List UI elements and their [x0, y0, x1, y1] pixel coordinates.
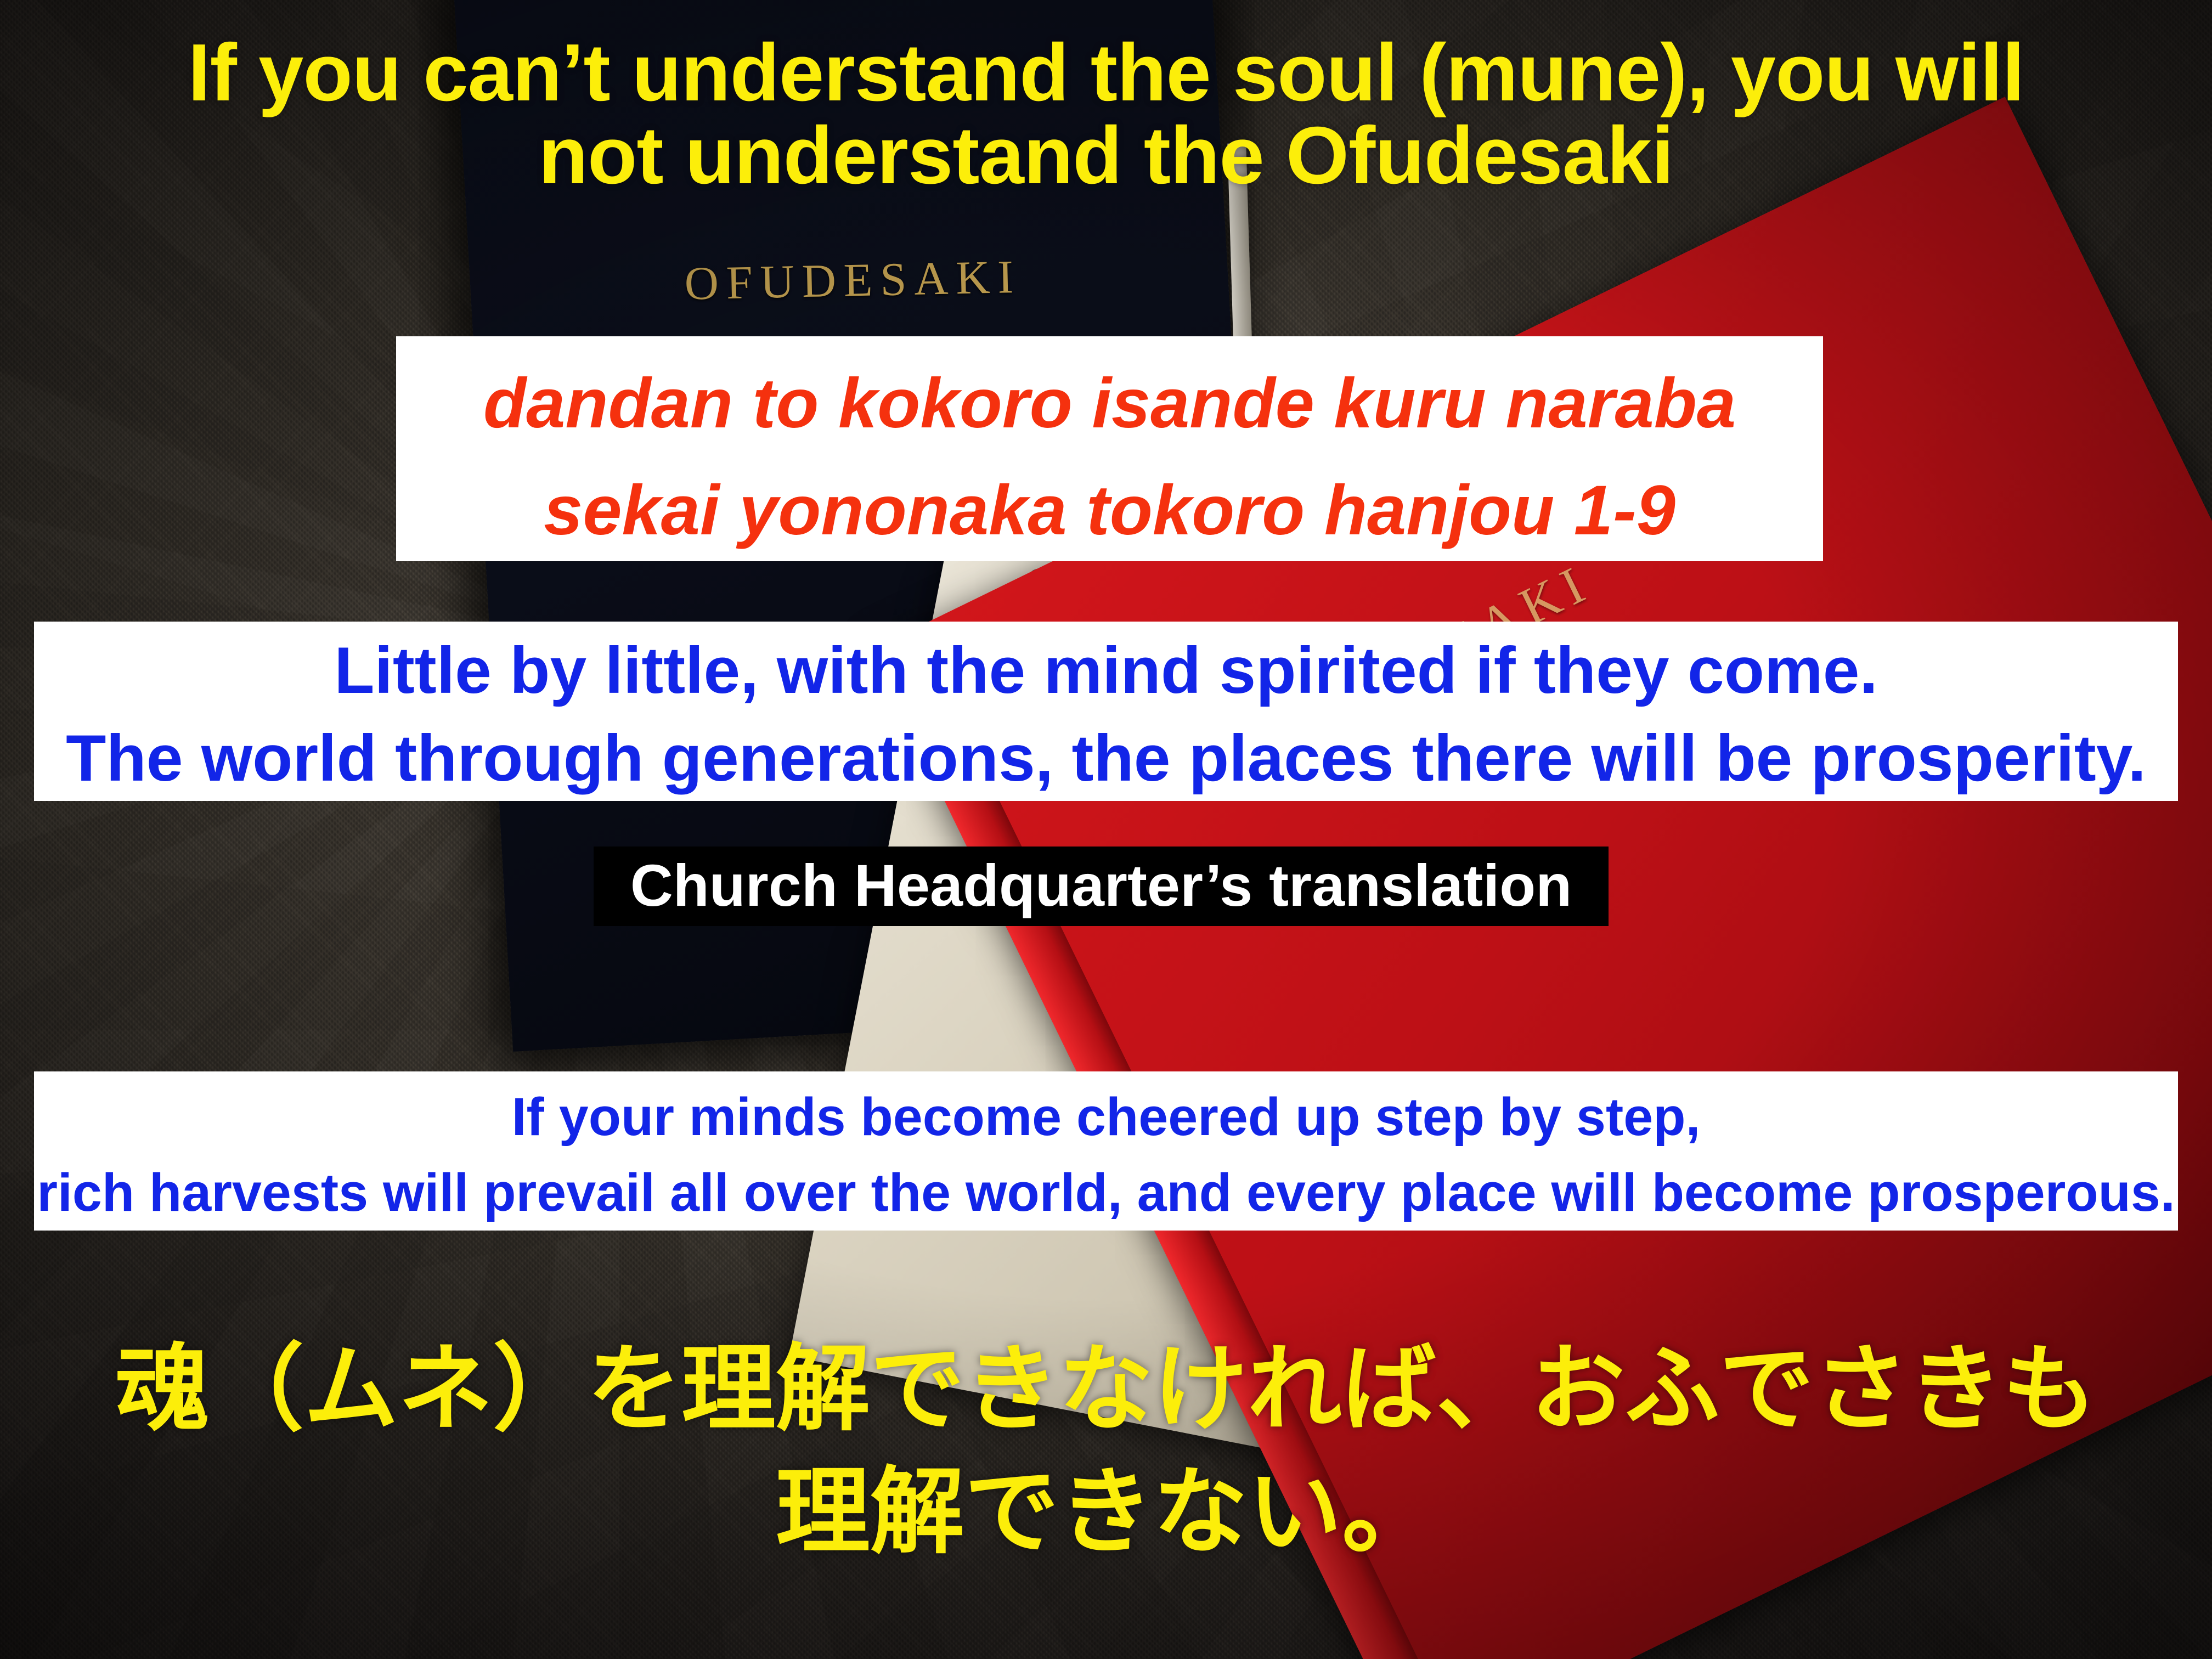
english-title-line-1: If you can’t understand the soul (mune),…	[0, 32, 2212, 115]
attribution-label: Church Headquarter’s translation	[594, 847, 1609, 925]
literal-translation-panel: Little by little, with the mind spirited…	[34, 622, 2178, 801]
literal-translation-line-1: Little by little, with the mind spirited…	[34, 627, 2178, 715]
english-title-line-2: not understand the Ofudesaki	[0, 115, 2212, 198]
official-translation-panel: If your minds become cheered up step by …	[34, 1071, 2178, 1231]
attribution-bar: Church Headquarter’s translation	[594, 847, 1609, 926]
official-translation-line-2: rich harvests will prevail all over the …	[34, 1155, 2178, 1231]
english-title: If you can’t understand the soul (mune),…	[0, 32, 2212, 198]
romaji-line-1: dandan to kokoro isande kuru naraba	[396, 351, 1823, 458]
romaji-verse-panel: dandan to kokoro isande kuru naraba seka…	[396, 336, 1823, 561]
slide-root: OFUDESAKI Ofudesaki ことに かも て OFUDESAKI I…	[0, 0, 2212, 1659]
japanese-title-line-2: 理解できない。	[0, 1451, 2212, 1573]
japanese-title: 魂（ムネ）を理解できなければ、おふでさきも 理解できない。	[0, 1328, 2212, 1573]
romaji-line-2: sekai yononaka tokoro hanjou 1-9	[396, 458, 1823, 565]
official-translation-line-1: If your minds become cheered up step by …	[34, 1079, 2178, 1155]
literal-translation-line-2: The world through generations, the place…	[34, 715, 2178, 803]
japanese-title-line-1: 魂（ムネ）を理解できなければ、おふでさきも	[0, 1328, 2212, 1451]
